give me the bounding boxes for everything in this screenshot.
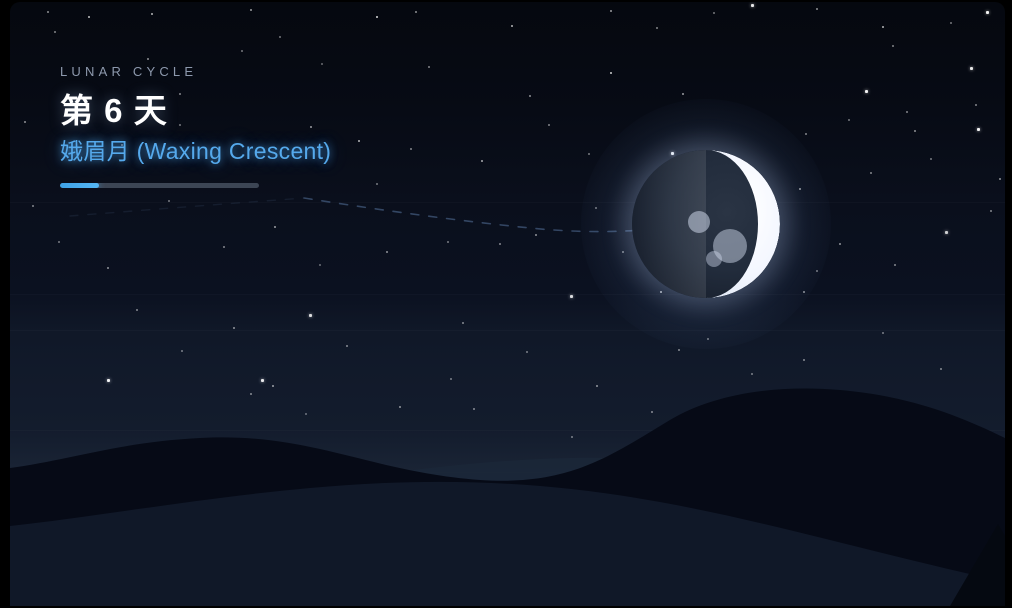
star <box>526 351 528 353</box>
star <box>181 350 183 352</box>
cycle-progress-bar[interactable] <box>60 183 259 188</box>
star <box>147 58 149 60</box>
star <box>168 200 170 202</box>
star <box>548 124 550 126</box>
star <box>233 327 235 329</box>
star <box>975 104 977 106</box>
star <box>882 26 884 28</box>
star <box>223 246 225 248</box>
star <box>151 13 153 15</box>
star <box>678 349 680 351</box>
cycle-progress-fill <box>60 183 99 188</box>
app-window: LUNAR CYCLE 第 6 天 娥眉月 (Waxing Crescent) <box>0 0 1012 608</box>
star <box>24 121 26 123</box>
star <box>906 111 908 113</box>
star <box>999 178 1001 180</box>
star <box>990 210 992 212</box>
star <box>970 67 973 70</box>
star <box>386 251 388 253</box>
star <box>977 128 980 131</box>
star <box>839 243 841 245</box>
star <box>805 133 807 135</box>
night-sky-scene: LUNAR CYCLE 第 6 天 娥眉月 (Waxing Crescent) <box>10 2 1005 606</box>
star <box>88 16 90 18</box>
star <box>751 4 754 7</box>
star <box>882 332 884 334</box>
star <box>570 295 573 298</box>
star <box>241 50 243 52</box>
page-title: 第 6 天 <box>60 91 490 131</box>
star <box>136 309 138 311</box>
star <box>656 27 658 29</box>
star <box>588 153 590 155</box>
star <box>462 322 464 324</box>
star <box>447 241 449 243</box>
star <box>250 9 252 11</box>
moon-phase-label: 娥眉月 (Waxing Crescent) <box>60 136 490 166</box>
star <box>309 314 312 317</box>
star <box>376 16 378 18</box>
star <box>32 205 34 207</box>
star <box>870 172 872 174</box>
landscape-hills <box>10 376 1005 606</box>
star <box>346 345 348 347</box>
lunar-info-panel: LUNAR CYCLE 第 6 天 娥眉月 (Waxing Crescent) <box>60 62 490 188</box>
star <box>865 90 868 93</box>
star <box>930 158 932 160</box>
star <box>47 11 49 13</box>
star <box>499 243 501 245</box>
star <box>986 11 989 14</box>
star <box>610 10 612 12</box>
star <box>54 31 56 33</box>
star <box>816 8 818 10</box>
moon[interactable] <box>623 141 789 307</box>
panel-eyebrow-label: LUNAR CYCLE <box>60 62 490 82</box>
star <box>511 25 513 27</box>
star <box>945 231 948 234</box>
star <box>950 22 952 24</box>
star <box>58 241 60 243</box>
star <box>415 11 417 13</box>
star <box>610 72 612 74</box>
star <box>848 119 850 121</box>
star <box>940 368 942 370</box>
star <box>274 226 276 228</box>
moon-disc <box>632 150 780 298</box>
star <box>319 264 321 266</box>
star <box>713 12 715 14</box>
star <box>535 234 537 236</box>
star <box>751 373 753 375</box>
star <box>682 93 684 95</box>
star <box>107 267 109 269</box>
star <box>529 95 531 97</box>
star <box>894 264 896 266</box>
star <box>914 130 916 132</box>
star <box>803 359 805 361</box>
star <box>892 45 894 47</box>
star <box>279 36 281 38</box>
moon-lit-area <box>632 150 780 298</box>
